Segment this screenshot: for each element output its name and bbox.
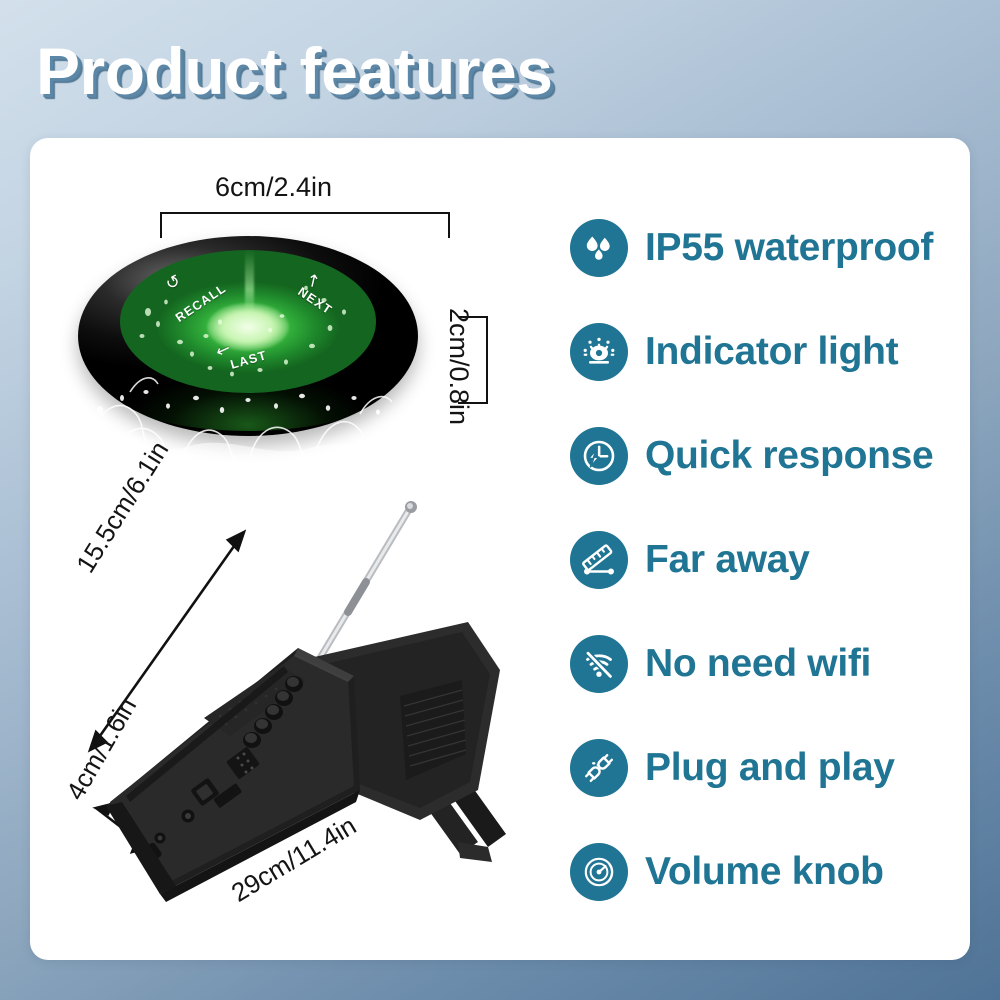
clock-bolt-icon xyxy=(570,427,628,485)
feature-item-quick-response[interactable]: Quick response xyxy=(570,404,960,508)
dial-knob-icon xyxy=(570,843,628,901)
content-card: 6cm/2.4in 2cm/0.8in xyxy=(30,138,970,960)
face-droplets xyxy=(120,250,376,393)
feature-list: IP55 waterproof xyxy=(570,196,960,924)
feature-item-no-wifi[interactable]: No need wifi xyxy=(570,612,960,716)
plug-socket-icon xyxy=(570,739,628,797)
ruler-icon xyxy=(570,531,628,589)
call-button-photo: 6cm/2.4in 2cm/0.8in xyxy=(50,158,520,498)
feature-item-volume-knob[interactable]: Volume knob xyxy=(570,820,960,924)
call-button-device: ↺ RECALL ↗ NEXT ↗ LAST xyxy=(78,236,418,471)
feature-label: Plug and play xyxy=(645,746,895,790)
feature-label: Volume knob xyxy=(645,850,884,894)
feature-item-indicator-light[interactable]: Indicator light xyxy=(570,300,960,404)
infographic-canvas: Product features 6cm/2.4in 2cm/0.8in xyxy=(0,0,1000,1000)
page-title: Product features xyxy=(36,38,552,104)
feature-label: No need wifi xyxy=(645,642,871,686)
receiver-photo: 15.5cm/6.1in 29cm/11.4in 4cm/1.6in xyxy=(48,490,548,950)
feature-label: Quick response xyxy=(645,434,933,478)
dimension-bracket-width xyxy=(160,212,450,238)
receiver-body xyxy=(106,648,360,902)
water-drops-icon xyxy=(570,219,628,277)
feature-item-far-away[interactable]: Far away xyxy=(570,508,960,612)
feature-label: IP55 waterproof xyxy=(645,226,933,270)
feature-item-waterproof[interactable]: IP55 waterproof xyxy=(570,196,960,300)
indicator-light-icon xyxy=(570,323,628,381)
call-button-top-face: ↺ RECALL ↗ NEXT ↗ LAST xyxy=(120,250,376,393)
dimension-width-label: 6cm/2.4in xyxy=(215,172,332,203)
feature-label: Indicator light xyxy=(645,330,898,374)
wifi-off-icon xyxy=(570,635,628,693)
feature-item-plug-and-play[interactable]: Plug and play xyxy=(570,716,960,820)
feature-label: Far away xyxy=(645,538,810,582)
dimension-height-label: 2cm/0.8in xyxy=(443,308,474,425)
